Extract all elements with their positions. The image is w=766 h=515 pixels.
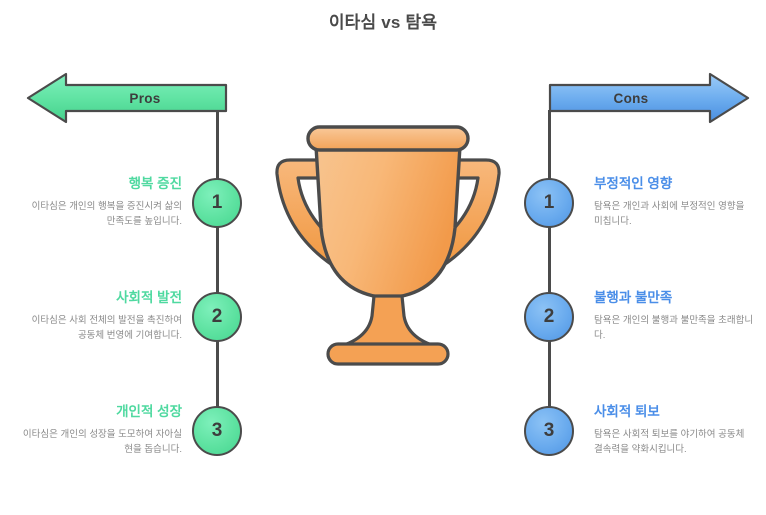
cons-node-3-number: 3 [544,420,555,442]
cons-item-2: 불행과 불만족 탐욕은 개인의 불행과 불만족을 초래합니다. [594,290,754,343]
pros-item-3: 개인적 성장 이타심은 개인의 성장을 도모하여 자아실현을 돕습니다. [22,404,182,457]
pros-node-2[interactable]: 2 [192,292,242,342]
cons-item-1-description: 탐욕은 개인과 사회에 부정적인 영향을 미칩니다. [594,200,754,229]
pros-item-2-heading: 사회적 발전 [22,290,182,307]
page-title: 이타심 vs 탐욕 [0,8,766,33]
cons-node-1[interactable]: 1 [524,178,574,228]
cons-item-3: 사회적 퇴보 탐욕은 사회적 퇴보를 야기하여 공동체 결속력을 약화시킵니다. [594,404,754,457]
cons-item-3-description: 탐욕은 사회적 퇴보를 야기하여 공동체 결속력을 약화시킵니다. [594,428,754,457]
pros-timeline-spine [216,110,219,440]
pros-item-3-description: 이타심은 개인의 성장을 도모하여 자아실현을 돕습니다. [22,428,182,457]
cons-item-2-description: 탐욕은 개인의 불행과 불만족을 초래합니다. [594,314,754,343]
cons-node-3[interactable]: 3 [524,406,574,456]
pros-node-1-number: 1 [212,192,223,214]
cons-node-2-number: 2 [544,306,555,328]
pros-item-1-description: 이타심은 개인의 행복을 증진시켜 삶의 만족도를 높입니다. [22,200,182,229]
cons-timeline-spine [548,110,551,440]
cons-item-1-heading: 부정적인 영향 [594,176,754,193]
pros-node-1[interactable]: 1 [192,178,242,228]
cons-item-3-heading: 사회적 퇴보 [594,404,754,421]
pros-node-2-number: 2 [212,306,223,328]
pros-banner-label: Pros [28,72,228,124]
cons-item-1: 부정적인 영향 탐욕은 개인과 사회에 부정적인 영향을 미칩니다. [594,176,754,229]
pros-item-2-description: 이타심은 사회 전체의 발전을 촉진하여 공동체 번영에 기여합니다. [22,314,182,343]
pros-node-3[interactable]: 3 [192,406,242,456]
cons-node-2[interactable]: 2 [524,292,574,342]
cons-banner-label: Cons [548,72,748,124]
pros-item-2: 사회적 발전 이타심은 사회 전체의 발전을 촉진하여 공동체 번영에 기여합니… [22,290,182,343]
pros-item-1: 행복 증진 이타심은 개인의 행복을 증진시켜 삶의 만족도를 높입니다. [22,176,182,229]
cons-item-2-heading: 불행과 불만족 [594,290,754,307]
pros-item-1-heading: 행복 증진 [22,176,182,193]
pros-banner: Pros [28,72,228,124]
trophy-icon [272,118,504,370]
pros-node-3-number: 3 [212,420,223,442]
pros-item-3-heading: 개인적 성장 [22,404,182,421]
cons-banner: Cons [548,72,748,124]
cons-node-1-number: 1 [544,192,555,214]
